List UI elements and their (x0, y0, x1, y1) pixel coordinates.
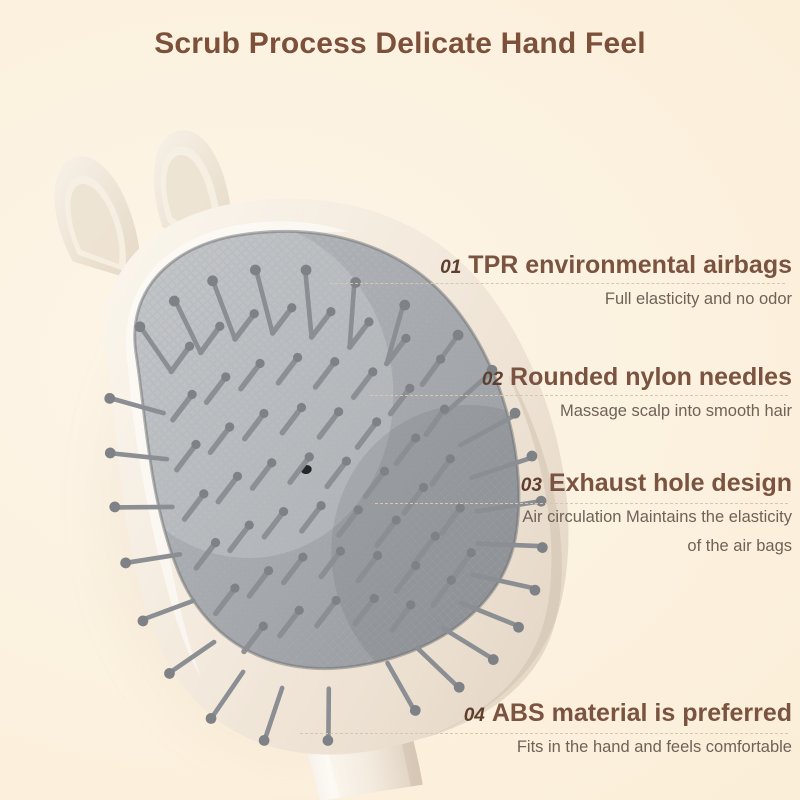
callout-2-title: Rounded nylon needles (510, 363, 792, 391)
callout-4-heading: 04ABS material is preferred (464, 700, 792, 726)
callout-4-number: 04 (464, 706, 485, 726)
callout-1-title: TPR environmental airbags (468, 251, 792, 279)
callout-1-number: 01 (440, 258, 461, 278)
callout-4-subtext: Fits in the hand and feels comfortable (464, 734, 792, 761)
callout-3-subtext-line-2: of the air bags (521, 533, 792, 560)
callout-3-title: Exhaust hole design (549, 469, 792, 497)
callout-2-heading: 02Rounded nylon needles (482, 364, 792, 390)
product-infographic: Scrub Process Delicate Hand Feel (0, 0, 800, 800)
callout-2-subtext: Massage scalp into smooth hair (482, 398, 792, 425)
callout-3: 03Exhaust hole design Air circulation Ma… (521, 470, 792, 560)
callout-1-heading: 01TPR environmental airbags (440, 252, 792, 278)
callout-2-number: 02 (482, 370, 503, 390)
callout-2: 02Rounded nylon needles Massage scalp in… (482, 364, 792, 425)
callout-3-heading: 03Exhaust hole design (521, 470, 792, 496)
callout-3-subtext-line-1: Air circulation Maintains the elasticity (521, 504, 792, 531)
callout-4-title: ABS material is preferred (492, 699, 792, 727)
callout-1: 01TPR environmental airbags Full elastic… (440, 252, 792, 313)
callout-1-subtext: Full elasticity and no odor (440, 286, 792, 313)
callout-4: 04ABS material is preferred Fits in the … (464, 700, 792, 761)
callout-3-number: 03 (521, 476, 542, 496)
